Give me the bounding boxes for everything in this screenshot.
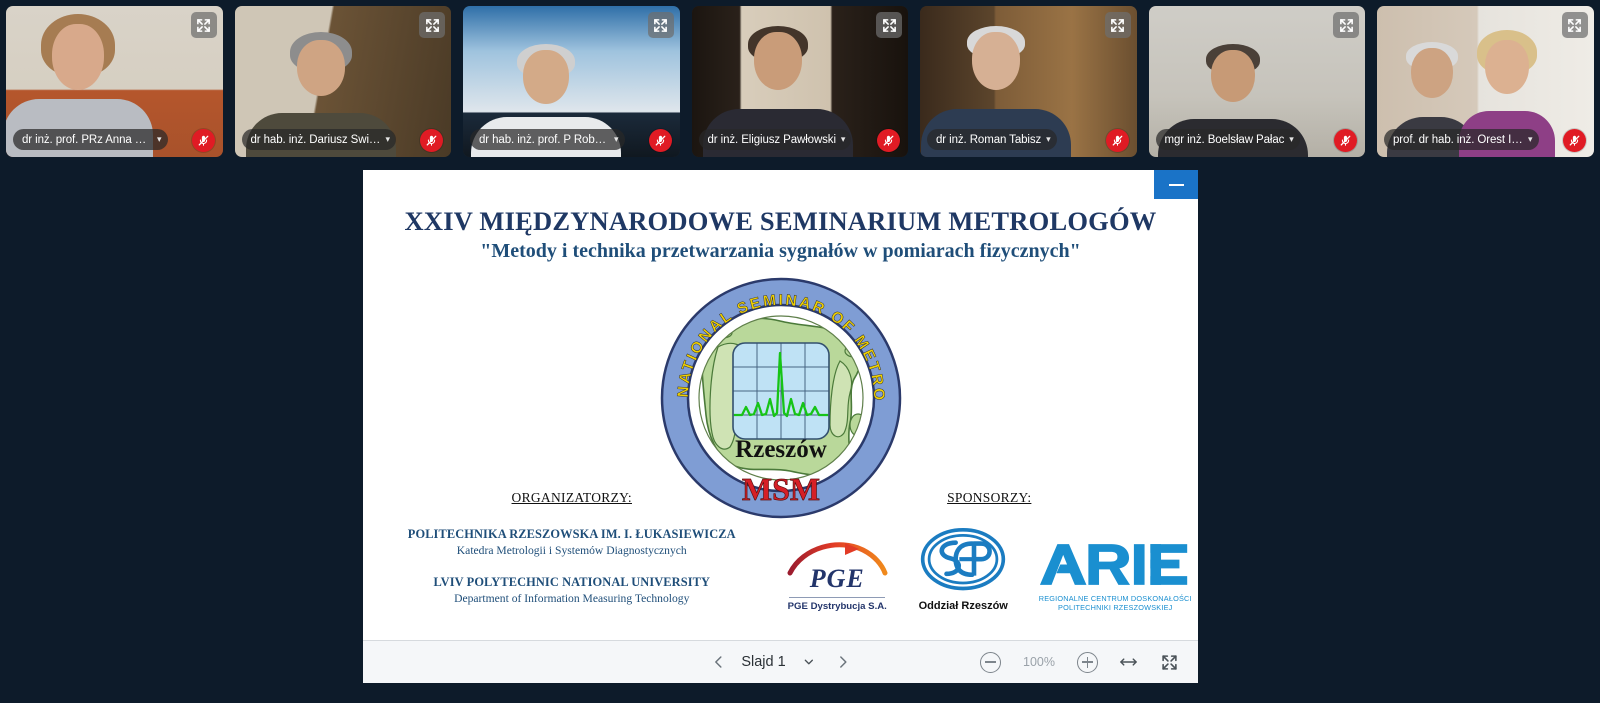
mute-status-badge [192, 129, 215, 152]
organizer-name: LVIV POLYTECHNIC NATIONAL UNIVERSITY [363, 575, 781, 590]
microphone-muted-icon [197, 134, 210, 147]
participant-face [1211, 50, 1255, 102]
participant-name-chip[interactable]: dr inż. Roman Tabisz ▾ [927, 129, 1057, 150]
zoom-in-button[interactable] [1077, 652, 1098, 673]
shared-content-panel: XXIV MIĘDZYNARODOWE SEMINARIUM METROLOGÓ… [363, 170, 1198, 683]
slide-columns: ORGANIZATORZY: POLITECHNIKA RZESZOWSKA I… [363, 490, 1198, 612]
sep-logo: Oddział Rzeszów [909, 528, 1017, 612]
participant-name: dr inż. prof. PRz Anna Szlac... [22, 134, 152, 146]
chevron-down-icon[interactable]: ▾ [1046, 135, 1051, 144]
minimize-icon [1169, 184, 1184, 186]
participant-name: dr inż. Roman Tabisz [936, 134, 1041, 146]
expand-arrows-icon [882, 18, 897, 33]
chevron-down-icon[interactable]: ▾ [841, 135, 846, 144]
mute-status-badge [649, 129, 672, 152]
pge-logo: PGE PGE Dystrybucja S.A. [783, 540, 891, 612]
participant-name-chip[interactable]: dr inż. Eligiusz Pawłowski ▾ [699, 129, 852, 150]
organizer-dept: Katedra Metrologii i Systemów Diagnostyc… [363, 544, 781, 557]
previous-slide-button[interactable] [707, 651, 729, 673]
mute-status-badge [1334, 129, 1357, 152]
participant-face [297, 40, 345, 96]
mute-status-badge [1106, 129, 1129, 152]
arieet-caption-line1: REGIONALNE CENTRUM DOSKONAŁOŚCI [1035, 594, 1195, 603]
pge-caption: PGE Dystrybucja S.A. [783, 601, 891, 612]
next-slide-button[interactable] [832, 651, 854, 673]
sponsor-logo-row: PGE PGE Dystrybucja S.A. [781, 528, 1199, 612]
meeting-window: dr inż. prof. PRz Anna Szlac... ▾ [0, 0, 1600, 703]
participant-name-chip[interactable]: dr hab. inż. prof. P Robert ... ▾ [470, 129, 625, 150]
video-tile[interactable]: dr hab. inż. prof. P Robert ... ▾ [457, 0, 686, 163]
microphone-muted-icon [1568, 134, 1581, 147]
microphone-muted-icon [425, 134, 438, 147]
zoom-out-button[interactable] [980, 652, 1001, 673]
microphone-muted-icon [1111, 134, 1124, 147]
fit-width-button[interactable] [1117, 651, 1139, 673]
expand-arrows-icon [653, 18, 668, 33]
participant-face [523, 50, 569, 104]
video-tile[interactable]: prof. dr hab. inż. Orest Ivak... ▾ [1371, 0, 1600, 163]
video-tile[interactable]: mgr inż. Boelsław Pałac ▾ [1143, 0, 1372, 163]
slide-number-label: Slajd 1 [741, 654, 785, 670]
expand-tile-button[interactable] [1333, 12, 1359, 38]
msm-seminar-logo: Rzeszów MSM INTERNATIONAL SEMINAR OF MET… [658, 275, 904, 521]
mute-status-badge [877, 129, 900, 152]
zoom-level-label: 100% [1020, 655, 1058, 669]
video-tile[interactable]: dr hab. inż. Dariusz Świsuls... ▾ [229, 0, 458, 163]
expand-arrows-icon [1567, 18, 1582, 33]
pge-arc-graphic [785, 540, 889, 576]
microphone-muted-icon [1339, 134, 1352, 147]
participant-name: dr hab. inż. Dariusz Świsuls... [251, 134, 381, 146]
sponsors-column: SPONSORZY: [781, 490, 1199, 612]
svg-text:Rzeszów: Rzeszów [735, 436, 827, 463]
slide-dropdown-button[interactable] [798, 651, 820, 673]
expand-arrows-icon [196, 18, 211, 33]
sep-mark [919, 528, 1007, 594]
participant-name: prof. dr hab. inż. Orest Ivak... [1393, 134, 1523, 146]
expand-tile-button[interactable] [419, 12, 445, 38]
participant-name-chip[interactable]: dr hab. inż. Dariusz Świsuls... ▾ [242, 129, 397, 150]
participant-face [972, 32, 1020, 90]
mute-status-badge [420, 129, 443, 152]
participant-name: mgr inż. Boelsław Pałac [1165, 134, 1285, 146]
participant-face [1411, 48, 1453, 98]
expand-tile-button[interactable] [191, 12, 217, 38]
sep-caption: Oddział Rzeszów [909, 600, 1017, 612]
participant-name: dr inż. Eligiusz Pawłowski [708, 134, 836, 146]
participant-name-chip[interactable]: prof. dr hab. inż. Orest Ivak... ▾ [1384, 129, 1539, 150]
chevron-down-icon[interactable]: ▾ [386, 135, 391, 144]
expand-tile-button[interactable] [1562, 12, 1588, 38]
organizer-dept: Department of Information Measuring Tech… [363, 592, 781, 605]
presentation-slide: XXIV MIĘDZYNARODOWE SEMINARIUM METROLOGÓ… [363, 170, 1198, 640]
participant-name-chip[interactable]: dr inż. prof. PRz Anna Szlac... ▾ [13, 129, 168, 150]
expand-arrows-icon [425, 18, 440, 33]
microphone-muted-icon [882, 134, 895, 147]
sponsors-heading: SPONSORZY: [781, 490, 1199, 506]
video-tile[interactable]: dr inż. Roman Tabisz ▾ [914, 0, 1143, 163]
chevron-down-icon[interactable]: ▾ [1289, 135, 1294, 144]
organizer-name: POLITECHNIKA RZESZOWSKA IM. I. ŁUKASIEWI… [363, 527, 781, 542]
slide-title: XXIV MIĘDZYNARODOWE SEMINARIUM METROLOGÓ… [363, 206, 1198, 237]
fullscreen-button[interactable] [1158, 651, 1180, 673]
slide-navigation-toolbar: Slajd 1 100% [363, 640, 1198, 683]
video-tile[interactable]: dr inż. prof. PRz Anna Szlac... ▾ [0, 0, 229, 163]
expand-tile-button[interactable] [1105, 12, 1131, 38]
chevron-down-icon[interactable]: ▾ [1528, 135, 1533, 144]
participant-face [1485, 40, 1529, 94]
divider [789, 597, 885, 598]
expand-tile-button[interactable] [876, 12, 902, 38]
video-tile-strip: dr inż. prof. PRz Anna Szlac... ▾ [0, 0, 1600, 163]
video-tile[interactable]: dr inż. Eligiusz Pawłowski ▾ [686, 0, 915, 163]
chevron-down-icon[interactable]: ▾ [614, 135, 619, 144]
organizer-entry: LVIV POLYTECHNIC NATIONAL UNIVERSITY Dep… [363, 575, 781, 605]
expand-arrows-icon [1110, 18, 1125, 33]
organizer-entry: POLITECHNIKA RZESZOWSKA IM. I. ŁUKASIEWI… [363, 527, 781, 557]
organizers-column: ORGANIZATORZY: POLITECHNIKA RZESZOWSKA I… [363, 490, 781, 612]
slide-subtitle: "Metody i technika przetwarzania sygnałó… [363, 240, 1198, 263]
minimize-share-button[interactable] [1154, 170, 1198, 199]
participant-face [754, 32, 802, 90]
organizers-heading: ORGANIZATORZY: [363, 490, 781, 506]
arieet-mark [1038, 542, 1193, 587]
chevron-down-icon[interactable]: ▾ [157, 135, 162, 144]
expand-tile-button[interactable] [648, 12, 674, 38]
microphone-muted-icon [654, 134, 667, 147]
participant-name: dr hab. inż. prof. P Robert ... [479, 134, 609, 146]
arieet-logo: REGIONALNE CENTRUM DOSKONAŁOŚCI POLITECH… [1035, 542, 1195, 612]
arieet-caption-line2: POLITECHNIKI RZESZOWSKIEJ [1035, 603, 1195, 612]
expand-arrows-icon [1339, 18, 1354, 33]
participant-name-chip[interactable]: mgr inż. Boelsław Pałac ▾ [1156, 129, 1300, 150]
participant-face [52, 24, 104, 90]
mute-status-badge [1563, 129, 1586, 152]
